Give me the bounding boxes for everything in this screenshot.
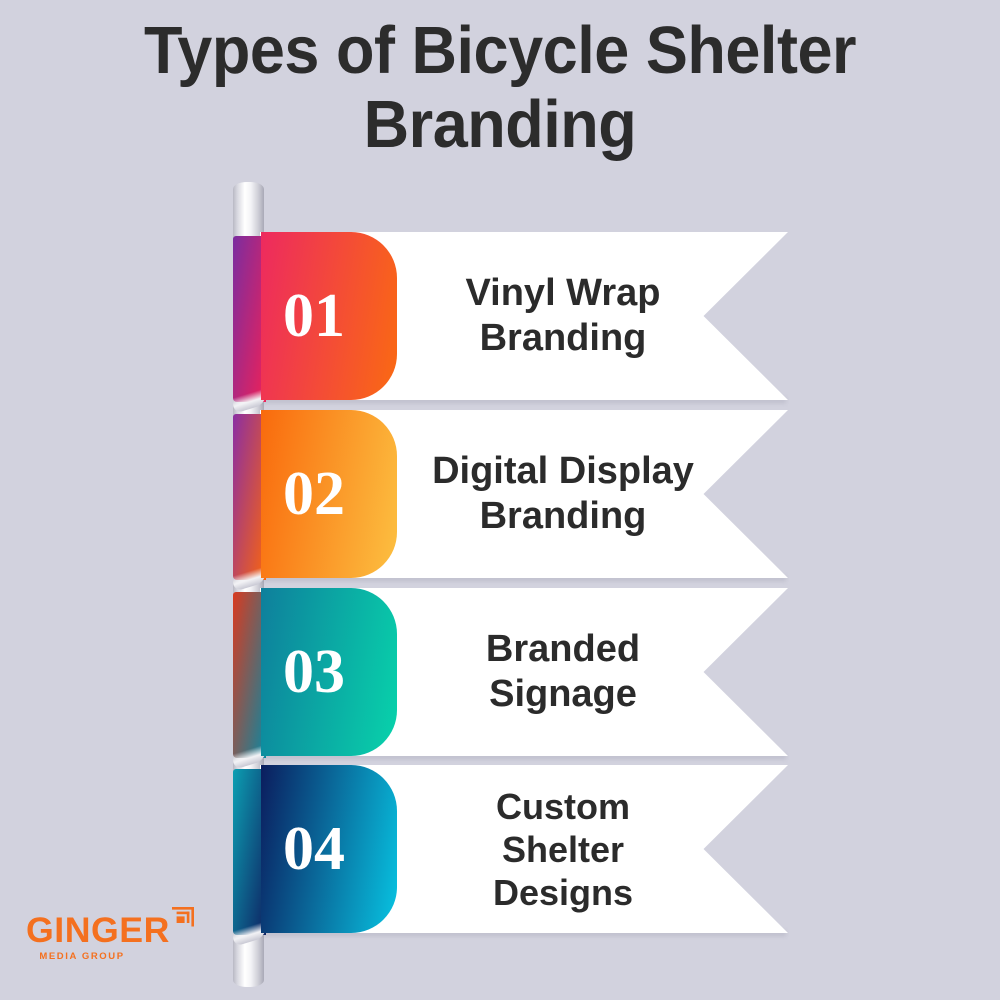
item-label-line-2: Shelter xyxy=(502,828,624,871)
item-label-line-2: Branding xyxy=(480,316,647,361)
list-item[interactable]: 03 Branded Signage xyxy=(0,578,1000,764)
number-badge: 02 xyxy=(261,410,397,578)
page-title-line-1: Types of Bicycle Shelter xyxy=(30,14,970,88)
logo-subtitle: MEDIA GROUP xyxy=(26,951,138,962)
item-label: Vinyl Wrap Branding xyxy=(400,232,726,400)
number-badge: 01 xyxy=(261,232,397,400)
item-label-line-3: Designs xyxy=(493,871,633,914)
number-badge: 04 xyxy=(261,765,397,933)
list-item[interactable]: 01 Vinyl Wrap Branding xyxy=(0,222,1000,408)
item-label-line-2: Branding xyxy=(480,494,647,539)
number-badge: 03 xyxy=(261,588,397,756)
item-label-line-1: Digital Display xyxy=(432,449,694,494)
page-title: Types of Bicycle Shelter Branding xyxy=(0,14,1000,162)
item-label: Branded Signage xyxy=(400,588,726,756)
nested-squares-icon xyxy=(170,905,196,934)
item-label-line-1: Branded xyxy=(486,627,640,672)
list-item[interactable]: 02 Digital Display Branding xyxy=(0,400,1000,586)
number-label: 02 xyxy=(283,463,345,525)
item-label-line-1: Vinyl Wrap xyxy=(466,271,661,316)
item-label-line-1: Custom xyxy=(496,785,630,828)
item-label: Custom Shelter Designs xyxy=(400,765,726,933)
item-label: Digital Display Branding xyxy=(400,410,726,578)
logo-wordmark: GINGER xyxy=(26,914,170,948)
item-label-line-2: Signage xyxy=(489,672,637,717)
logo-wordmark-row: GINGER xyxy=(26,905,196,948)
brand-logo[interactable]: GINGER MEDIA GROUP xyxy=(26,905,196,962)
number-label: 01 xyxy=(283,285,345,347)
number-label: 04 xyxy=(283,818,345,880)
infographic-canvas: Types of Bicycle Shelter Branding 01 Vin… xyxy=(0,0,1000,1000)
number-label: 03 xyxy=(283,641,345,703)
page-title-line-2: Branding xyxy=(30,88,970,162)
